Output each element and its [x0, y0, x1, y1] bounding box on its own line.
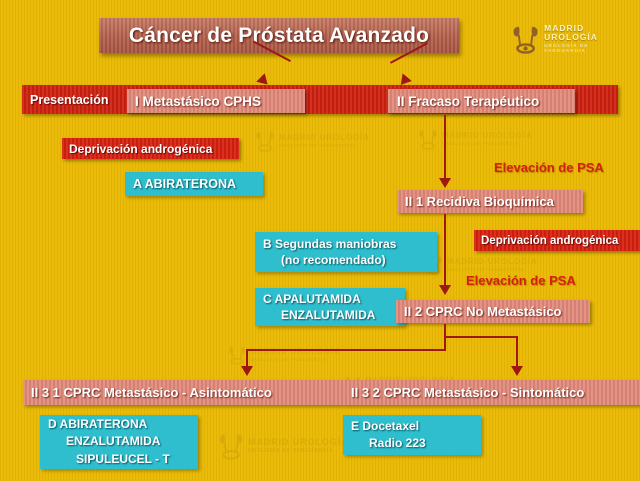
node-cprc-no-metastasico[interactable]: II 2 CPRC No Metastásico: [396, 300, 590, 323]
node-recidiva-bioquimica-label: II 1 Recidiva Bioquímica: [405, 194, 554, 209]
treatment-e-line-0: E Docetaxel: [351, 418, 481, 435]
annotation-psa-2: Elevación de PSA: [466, 271, 576, 289]
treatment-a[interactable]: A ABIRATERONA: [125, 172, 263, 196]
watermark-tagline: UROLOGÍA DE VANGUARDIA: [250, 358, 341, 362]
arrowhead-asintomatico: [241, 366, 253, 376]
node-recidiva-bioquimica[interactable]: II 1 Recidiva Bioquímica: [397, 190, 583, 213]
kidneys-icon: [218, 432, 244, 460]
watermark-name: MADRID UROLOGÍA: [248, 438, 349, 447]
annotation-deprivacion-2-label: Deprivación androgénica: [481, 235, 618, 247]
connector-branch-right-horizontal: [444, 336, 518, 338]
arrowhead-sintomatico: [511, 366, 523, 376]
watermark-tagline: UROLOGÍA DE VANGUARDIA: [442, 142, 533, 146]
watermark-logo: MADRID UROLOGÍA UROLOGÍA DE VANGUARDIA: [228, 345, 341, 365]
watermark-name: MADRID UROLOGÍA: [279, 134, 370, 142]
annotation-deprivacion-1-label: Deprivación androgénica: [69, 142, 212, 156]
kidneys-icon: [418, 128, 438, 150]
annotation-deprivacion-androgenica-1: Deprivación androgénica: [62, 138, 239, 159]
treatment-d-line-2: SIPULEUCEL - T: [48, 451, 198, 468]
node-cprc-metastasico-sintomatico-label: II 3 2 CPRC Metastásico - Sintomático: [351, 385, 584, 400]
treatment-d-line-1: ENZALUTAMIDA: [48, 433, 198, 450]
node-cprc-no-metastasico-label: II 2 CPRC No Metastásico: [404, 304, 562, 319]
kidneys-icon: [228, 345, 246, 365]
kidneys-icon: [512, 22, 539, 56]
connector-fracaso-to-recidiva: [444, 115, 446, 180]
node-metastasico-cphs-label: I Metastásico CPHS: [135, 94, 261, 109]
annotation-deprivacion-androgenica-2: Deprivación androgénica: [474, 230, 640, 251]
treatment-b[interactable]: B Segundas maniobras (no recomendado): [255, 232, 437, 272]
annotation-psa-2-label: Elevación de PSA: [466, 273, 576, 288]
watermark-name: MADRID UROLOGÍA: [447, 258, 538, 266]
node-fracaso-terapeutico[interactable]: II Fracaso Terapéutico: [388, 89, 575, 113]
watermark-tagline: UROLOGÍA DE VANGUARDIA: [248, 449, 349, 454]
watermark-logo: MADRID UROLOGÍA UROLOGÍA DE VANGUARDIA: [255, 130, 370, 152]
presentation-label: Presentación: [26, 88, 113, 111]
treatment-d[interactable]: D ABIRATERONA ENZALUTAMIDA SIPULEUCEL - …: [40, 415, 198, 469]
watermark-logo: MADRID UROLOGÍA UROLOGÍA DE VANGUARDIA: [218, 432, 349, 460]
connector-split-horizontal: [246, 349, 446, 351]
node-cprc-metastasico-asintomatico-label: II 3 1 CPRC Metastásico - Asintomático: [31, 385, 272, 400]
watermark-name: MADRID UROLOGÍA: [442, 132, 533, 140]
treatment-b-line-0: B Segundas maniobras: [263, 236, 437, 252]
annotation-psa-1-label: Elevación de PSA: [494, 160, 604, 175]
node-cprc-metastasico-sintomatico[interactable]: II 3 2 CPRC Metastásico - Sintomático: [343, 380, 640, 405]
kidneys-icon: [255, 130, 275, 152]
brand-logo: MADRID UROLOGÍA UROLOGÍA DE VANGUARDIA: [512, 20, 632, 58]
treatment-e-line-1: Radio 223: [351, 435, 481, 452]
treatment-d-line-0: D ABIRATERONA: [48, 416, 198, 433]
node-cprc-metastasico-asintomatico[interactable]: II 3 1 CPRC Metastásico - Asintomático: [23, 380, 343, 405]
treatment-c[interactable]: C APALUTAMIDA ENZALUTAMIDA: [255, 288, 405, 326]
page-title-text: Cáncer de Próstata Avanzado: [129, 24, 429, 48]
treatment-c-line-0: C APALUTAMIDA: [263, 291, 405, 307]
treatment-a-line-0: A ABIRATERONA: [133, 177, 263, 191]
watermark-tagline: UROLOGÍA DE VANGUARDIA: [279, 144, 370, 148]
watermark-logo: MADRID UROLOGÍA UROLOGÍA DE VANGUARDIA: [418, 128, 533, 150]
annotation-psa-1: Elevación de PSA: [494, 158, 604, 176]
treatment-c-line-1: ENZALUTAMIDA: [263, 307, 405, 323]
arrowhead-recidiva: [439, 178, 451, 188]
arrowhead-cprcnm: [439, 285, 451, 295]
treatment-b-line-1: (no recomendado): [263, 252, 437, 268]
brand-name: MADRID UROLOGÍA: [544, 24, 632, 41]
treatment-e[interactable]: E Docetaxel Radio 223: [343, 415, 481, 455]
diagram-canvas: MADRID UROLOGÍA UROLOGÍA DE VANGUARDIA M…: [0, 0, 640, 481]
node-metastasico-cphs[interactable]: I Metastásico CPHS: [127, 89, 305, 113]
node-fracaso-terapeutico-label: II Fracaso Terapéutico: [397, 94, 539, 109]
page-title: Cáncer de Próstata Avanzado: [99, 18, 459, 53]
connector-recidiva-to-cprcnm: [444, 214, 446, 289]
brand-tagline: UROLOGÍA DE VANGUARDIA: [544, 44, 632, 53]
